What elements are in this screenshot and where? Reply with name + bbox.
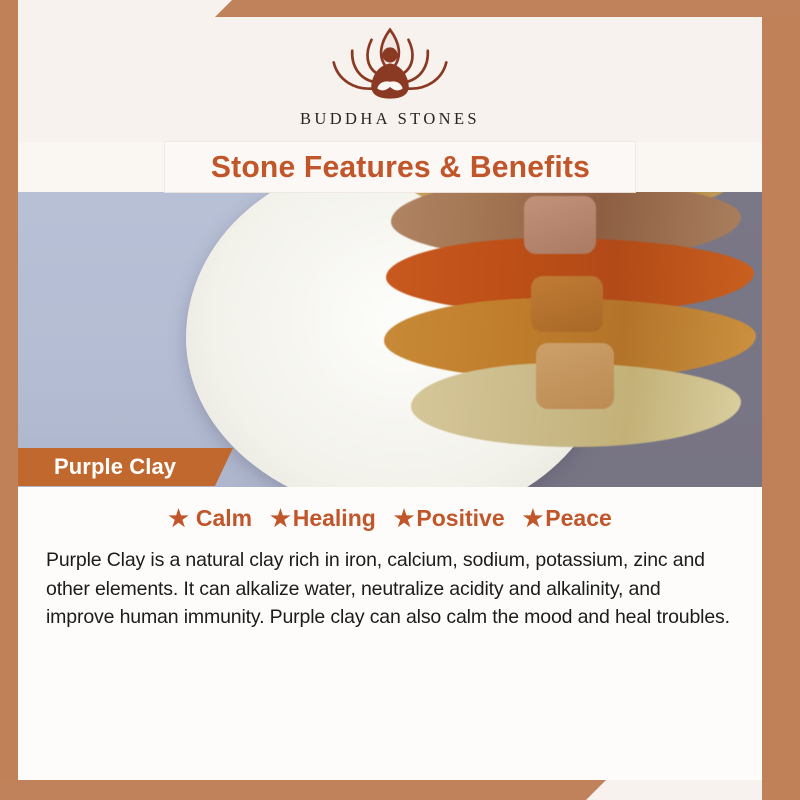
brand-header: BUDDHA STONES [18, 17, 762, 142]
star-icon: ★ [523, 507, 544, 530]
frame-left-border [0, 0, 18, 800]
product-name-label: Purple Clay [54, 454, 176, 480]
benefit-item-healing: ★ Healing [270, 505, 376, 532]
benefit-item-peace: ★ Peace [523, 505, 612, 532]
infographic-page: BUDDHA STONES Stone Features & Benefits … [0, 0, 800, 800]
ceramic-plate [186, 192, 616, 487]
benefits-list: ★ Calm ★ Healing ★ Positive ★ Peace [18, 505, 762, 532]
frame-top-border [215, 0, 800, 17]
benefit-label: Healing [293, 505, 376, 532]
clay-sample-chip-1 [524, 196, 596, 254]
star-icon: ★ [168, 507, 189, 530]
frame-bottom-border [0, 780, 606, 800]
title-banner: Stone Features & Benefits [165, 142, 635, 192]
star-icon: ★ [394, 507, 415, 530]
description-section: ★ Calm ★ Healing ★ Positive ★ Peace Purp… [18, 487, 762, 780]
benefit-item-calm: ★ Calm [168, 505, 252, 532]
product-photo [18, 192, 762, 487]
benefit-item-positive: ★ Positive [394, 505, 505, 532]
benefit-label: Calm [196, 505, 252, 532]
benefit-label: Positive [416, 505, 504, 532]
clay-sample-chip-2 [531, 276, 603, 332]
frame-right-border [762, 0, 800, 800]
page-title: Stone Features & Benefits [210, 149, 589, 185]
product-name-tag: Purple Clay [18, 448, 233, 486]
product-description: Purple Clay is a natural clay rich in ir… [46, 546, 734, 632]
lotus-meditation-icon [306, 23, 474, 107]
benefit-label: Peace [545, 505, 612, 532]
star-icon: ★ [270, 507, 291, 530]
brand-name: BUDDHA STONES [300, 109, 480, 129]
clay-sample-chip-3 [536, 343, 614, 409]
